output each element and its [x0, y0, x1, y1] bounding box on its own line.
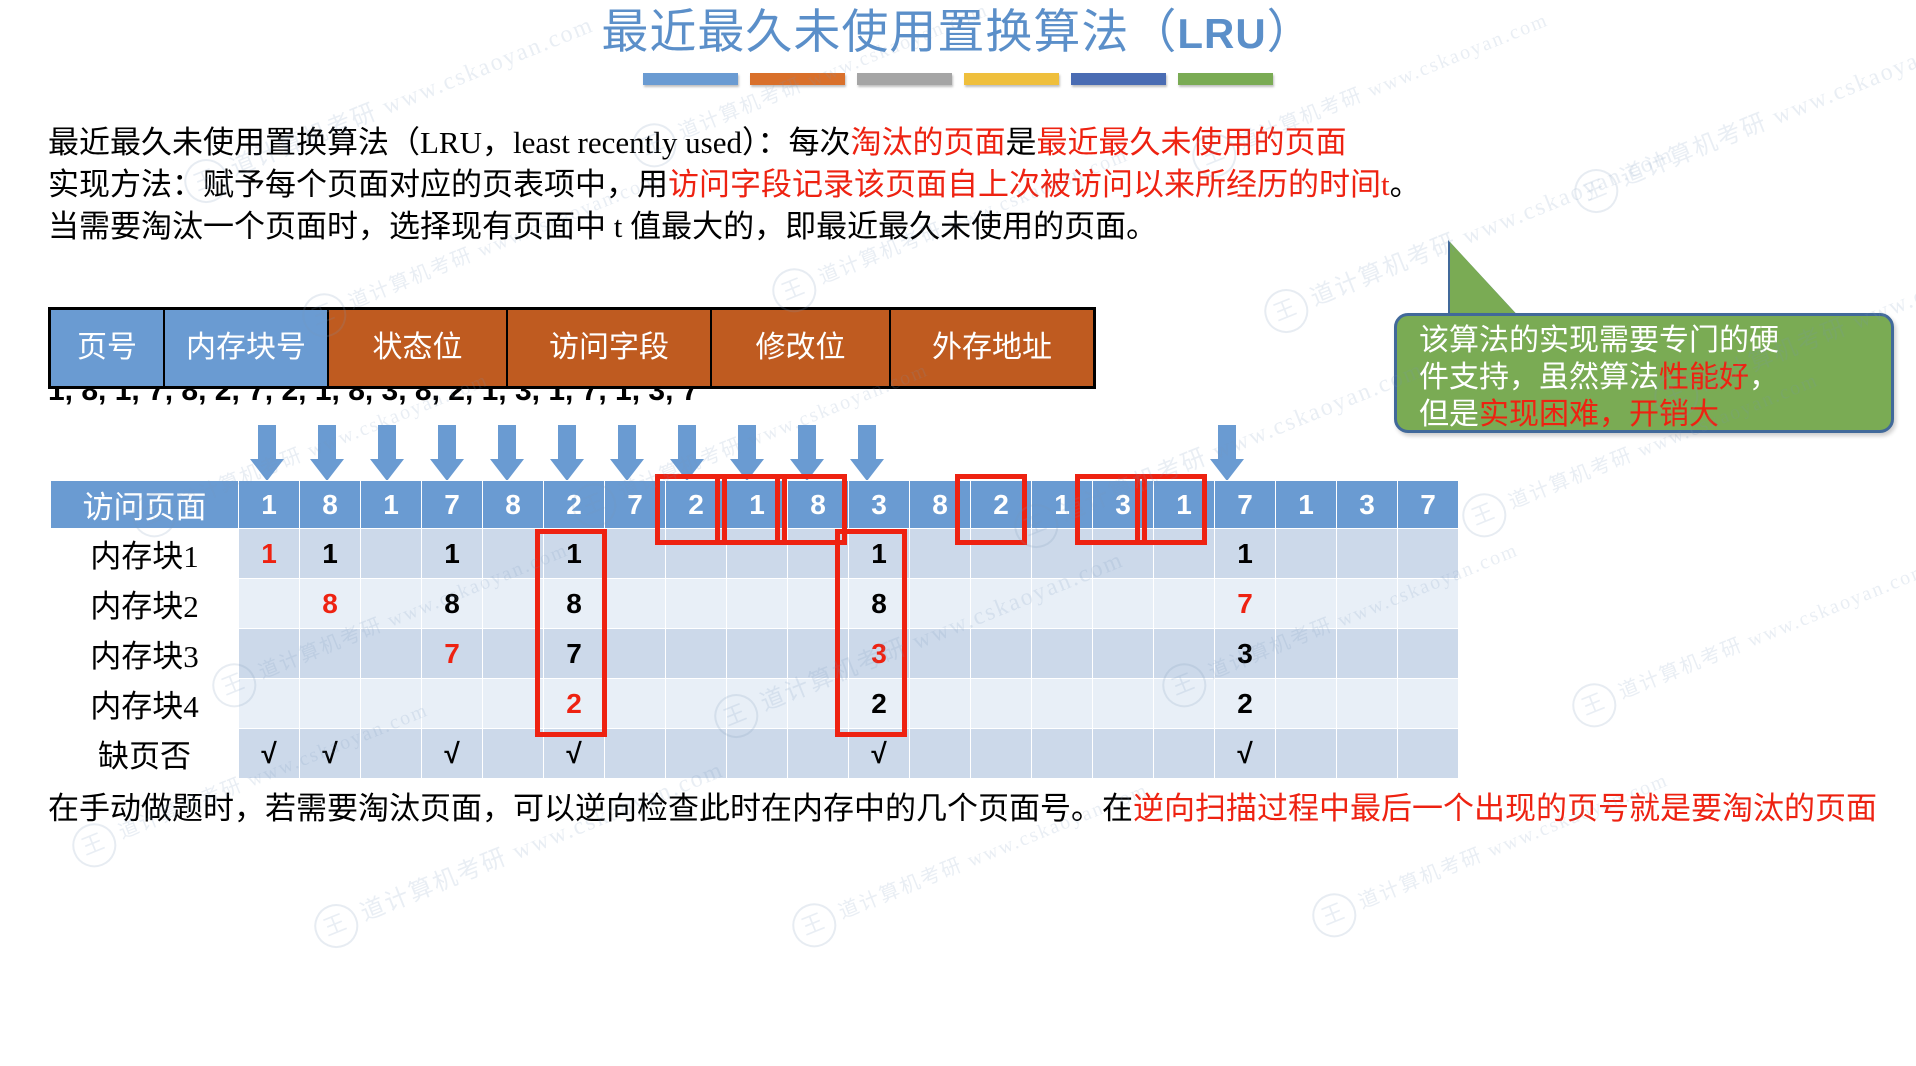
access-cell-19: 7: [1398, 481, 1459, 529]
bottom-highlight: 逆向扫描过程中最后一个出现的页号就是要淘汰的页面: [1133, 791, 1877, 826]
cell-r4-c1: [300, 679, 361, 729]
lru-trace-table: 访问页面18178272183821317137内存块1111111内存块288…: [50, 480, 1459, 779]
cell-r3-c18: [1337, 629, 1398, 679]
title-acronym: LRU: [1177, 10, 1266, 57]
cell-r3-c16: 3: [1215, 629, 1276, 679]
cell-r2-c13: [1032, 579, 1093, 629]
page-table-entry: 页号内存块号状态位访问字段修改位外存地址: [48, 307, 1096, 389]
access-cell-13: 1: [1032, 481, 1093, 529]
access-cell-4: 8: [483, 481, 544, 529]
cell-r1-c12: [971, 529, 1032, 579]
cell-r5-c3: √: [422, 729, 483, 779]
page-table-header-2: 内存块号: [164, 309, 328, 388]
cell-r3-c7: [666, 629, 727, 679]
access-cell-8: 1: [727, 481, 788, 529]
down-arrow-icon: [850, 425, 884, 481]
bottom-part-a: 在手动做题时，若需要淘汰页面，可以逆向检查此时在内存中的几个页面号。在: [48, 791, 1133, 826]
row-label-4: 内存块4: [51, 679, 239, 729]
cell-r1-c0: 1: [239, 529, 300, 579]
cell-r5-c8: [727, 729, 788, 779]
cell-r1-c18: [1337, 529, 1398, 579]
watermark: 王道计算机考研 www.cskaoyan.com: [1306, 760, 1677, 944]
access-cell-7: 2: [666, 481, 727, 529]
cell-r4-c0: [239, 679, 300, 729]
down-arrow-icon: [550, 425, 584, 481]
cell-r1-c7: [666, 529, 727, 579]
cell-r2-c5: 8: [544, 579, 605, 629]
cell-r4-c12: [971, 679, 1032, 729]
cell-r4-c4: [483, 679, 544, 729]
title-close: ）: [1267, 7, 1315, 59]
row-label-2: 内存块2: [51, 579, 239, 629]
row-label-3: 内存块3: [51, 629, 239, 679]
p1-part-a: 最近最久未使用置换算法（LRU，least recently used）：每次: [48, 125, 850, 160]
bar-blue: [643, 73, 738, 85]
cell-r3-c13: [1032, 629, 1093, 679]
cell-r2-c2: [361, 579, 422, 629]
access-cell-6: 7: [605, 481, 666, 529]
cell-r5-c2: [361, 729, 422, 779]
access-cell-16: 7: [1215, 481, 1276, 529]
cell-r5-c18: [1337, 729, 1398, 779]
access-cell-0: 1: [239, 481, 300, 529]
cell-r4-c9: [788, 679, 849, 729]
cell-r3-c5: 7: [544, 629, 605, 679]
page-table-header-row: 页号内存块号状态位访问字段修改位外存地址: [50, 309, 1095, 388]
bar-green: [1178, 73, 1273, 85]
cell-r5-c5: √: [544, 729, 605, 779]
access-cell-12: 2: [971, 481, 1032, 529]
cell-r1-c13: [1032, 529, 1093, 579]
bar-yellow: [964, 73, 1059, 85]
cell-r2-c11: [910, 579, 971, 629]
cell-r4-c17: [1276, 679, 1337, 729]
down-arrow-icon: [790, 425, 824, 481]
cell-r4-c19: [1398, 679, 1459, 729]
slide-title: 最近最久未使用置换算法（LRU）: [0, 4, 1916, 63]
callout-line-2a: 件支持，虽然算法: [1419, 361, 1659, 394]
callout-text: 该算法的实现需要专门的硬 件支持，虽然算法性能好， 但是实现困难，开销大: [1419, 322, 1879, 433]
cell-r2-c0: [239, 579, 300, 629]
cell-r1-c15: [1154, 529, 1215, 579]
cell-r1-c6: [605, 529, 666, 579]
cell-r1-c11: [910, 529, 971, 579]
callout-tail: [1450, 242, 1520, 318]
row-label-access: 访问页面: [51, 481, 239, 529]
bar-gray: [857, 73, 952, 85]
cell-r2-c14: [1093, 579, 1154, 629]
cell-r2-c4: [483, 579, 544, 629]
cell-r2-c1: 8: [300, 579, 361, 629]
cell-r3-c14: [1093, 629, 1154, 679]
title-main: 最近最久未使用置换算法（: [601, 7, 1177, 59]
cell-r3-c2: [361, 629, 422, 679]
cell-r2-c3: 8: [422, 579, 483, 629]
cell-r5-c9: [788, 729, 849, 779]
cell-r3-c12: [971, 629, 1032, 679]
cell-r4-c13: [1032, 679, 1093, 729]
cell-r4-c11: [910, 679, 971, 729]
access-cell-15: 1: [1154, 481, 1215, 529]
cell-r4-c16: 2: [1215, 679, 1276, 729]
cell-r3-c10: 3: [849, 629, 910, 679]
cell-r1-c2: [361, 529, 422, 579]
cell-r3-c9: [788, 629, 849, 679]
cell-r3-c17: [1276, 629, 1337, 679]
cell-r4-c15: [1154, 679, 1215, 729]
cell-r5-c13: [1032, 729, 1093, 779]
access-cell-9: 8: [788, 481, 849, 529]
cell-r1-c19: [1398, 529, 1459, 579]
cell-r2-c15: [1154, 579, 1215, 629]
cell-r4-c7: [666, 679, 727, 729]
cell-r1-c17: [1276, 529, 1337, 579]
access-cell-1: 8: [300, 481, 361, 529]
p1-highlight-2: 最近最久未使用的页面: [1036, 125, 1346, 160]
access-cell-17: 1: [1276, 481, 1337, 529]
cell-r5-c6: [605, 729, 666, 779]
table-row: 内存块37733: [51, 629, 1459, 679]
cell-r3-c4: [483, 629, 544, 679]
cell-r1-c3: 1: [422, 529, 483, 579]
cell-r4-c3: [422, 679, 483, 729]
bar-orange: [750, 73, 845, 85]
paragraph-bottom-1: 在手动做题时，若需要淘汰页面，可以逆向检查此时在内存中的几个页面号。在逆向扫描过…: [48, 790, 1877, 828]
callout-line-2b: ，: [1749, 361, 1779, 394]
cell-r5-c11: [910, 729, 971, 779]
access-cell-10: 3: [849, 481, 910, 529]
cell-r5-c4: [483, 729, 544, 779]
cell-r3-c15: [1154, 629, 1215, 679]
down-arrow-icon: [310, 425, 344, 481]
cell-r3-c11: [910, 629, 971, 679]
cell-r4-c18: [1337, 679, 1398, 729]
cell-r4-c5: 2: [544, 679, 605, 729]
down-arrow-icon: [490, 425, 524, 481]
page-table-header-6: 外存地址: [890, 309, 1095, 388]
cell-r1-c8: [727, 529, 788, 579]
cell-r5-c17: [1276, 729, 1337, 779]
cell-r3-c19: [1398, 629, 1459, 679]
cell-r1-c16: 1: [1215, 529, 1276, 579]
cell-r5-c10: √: [849, 729, 910, 779]
cell-r3-c0: [239, 629, 300, 679]
down-arrow-icon: [370, 425, 404, 481]
cell-r1-c14: [1093, 529, 1154, 579]
cell-r5-c1: √: [300, 729, 361, 779]
cell-r1-c9: [788, 529, 849, 579]
cell-r2-c6: [605, 579, 666, 629]
cell-r4-c14: [1093, 679, 1154, 729]
title-decor-bars: [0, 72, 1916, 90]
table-row-access: 访问页面18178272183821317137: [51, 481, 1459, 529]
cell-r3-c6: [605, 629, 666, 679]
callout-highlight-2: 实现困难，开销大: [1479, 398, 1719, 431]
page-table-header-4: 访问字段: [507, 309, 711, 388]
access-cell-18: 3: [1337, 481, 1398, 529]
row-label-5: 缺页否: [51, 729, 239, 779]
cell-r3-c8: [727, 629, 788, 679]
cell-r1-c5: 1: [544, 529, 605, 579]
down-arrow-icon: [730, 425, 764, 481]
cell-r4-c2: [361, 679, 422, 729]
page-table-header-3: 状态位: [328, 309, 507, 388]
cell-r1-c10: 1: [849, 529, 910, 579]
access-cell-14: 3: [1093, 481, 1154, 529]
cell-r2-c19: [1398, 579, 1459, 629]
page-table-header-1: 页号: [50, 309, 165, 388]
down-arrow-icon: [250, 425, 284, 481]
cell-r2-c8: [727, 579, 788, 629]
cell-r5-c12: [971, 729, 1032, 779]
access-cell-2: 1: [361, 481, 422, 529]
table-row: 内存块288887: [51, 579, 1459, 629]
table-row: 内存块4222: [51, 679, 1459, 729]
access-cell-5: 2: [544, 481, 605, 529]
watermark: 王道计算机考研 www.cskaoyan.com: [308, 749, 732, 955]
access-cell-3: 7: [422, 481, 483, 529]
p2-part-a: 实现方法：赋予每个页面对应的页表项中，用: [48, 167, 668, 202]
cell-r2-c16: 7: [1215, 579, 1276, 629]
cell-r5-c7: [666, 729, 727, 779]
p2-part-b: 。: [1390, 167, 1421, 202]
page-table-header-5: 修改位: [711, 309, 890, 388]
table-row: 缺页否√√√√√√: [51, 729, 1459, 779]
row-label-1: 内存块1: [51, 529, 239, 579]
cell-r4-c10: 2: [849, 679, 910, 729]
table-row: 内存块1111111: [51, 529, 1459, 579]
cell-r2-c17: [1276, 579, 1337, 629]
cell-r5-c16: √: [1215, 729, 1276, 779]
cell-r4-c8: [727, 679, 788, 729]
cell-r4-c6: [605, 679, 666, 729]
paragraph-line-3: 当需要淘汰一个页面时，选择现有页面中 t 值最大的，即最近最久未使用的页面。: [48, 208, 1157, 246]
cell-r2-c18: [1337, 579, 1398, 629]
cell-r3-c3: 7: [422, 629, 483, 679]
cell-r5-c14: [1093, 729, 1154, 779]
down-arrow-icon: [670, 425, 704, 481]
down-arrow-icon: [1210, 425, 1244, 481]
cell-r2-c9: [788, 579, 849, 629]
cell-r3-c1: [300, 629, 361, 679]
cell-r2-c12: [971, 579, 1032, 629]
callout-box: 该算法的实现需要专门的硬 件支持，虽然算法性能好， 但是实现困难，开销大: [1394, 313, 1894, 433]
watermark: 王道计算机考研 www.cskaoyan.com: [1566, 550, 1916, 734]
callout-line-3a: 但是: [1419, 398, 1479, 431]
page-title: 最近最久未使用置换算法（LRU）: [0, 4, 1916, 63]
cell-r1-c4: [483, 529, 544, 579]
p2-highlight: 访问字段记录该页面自上次被访问以来所经历的时间t: [668, 167, 1390, 202]
p1-part-b: 是: [1005, 125, 1036, 160]
paragraph-line-2: 实现方法：赋予每个页面对应的页表项中，用访问字段记录该页面自上次被访问以来所经历…: [48, 166, 1421, 204]
down-arrow-icon: [430, 425, 464, 481]
cell-r5-c19: [1398, 729, 1459, 779]
paragraph-line-1: 最近最久未使用置换算法（LRU，least recently used）：每次淘…: [48, 124, 1346, 162]
cell-r5-c15: [1154, 729, 1215, 779]
cell-r5-c0: √: [239, 729, 300, 779]
callout-line-1: 该算法的实现需要专门的硬: [1419, 324, 1779, 357]
callout-highlight-1: 性能好: [1659, 361, 1749, 394]
access-cell-11: 8: [910, 481, 971, 529]
p1-highlight-1: 淘汰的页面: [850, 125, 1005, 160]
down-arrow-icon: [610, 425, 644, 481]
bar-indigo: [1071, 73, 1166, 85]
cell-r2-c10: 8: [849, 579, 910, 629]
cell-r2-c7: [666, 579, 727, 629]
cell-r1-c1: 1: [300, 529, 361, 579]
